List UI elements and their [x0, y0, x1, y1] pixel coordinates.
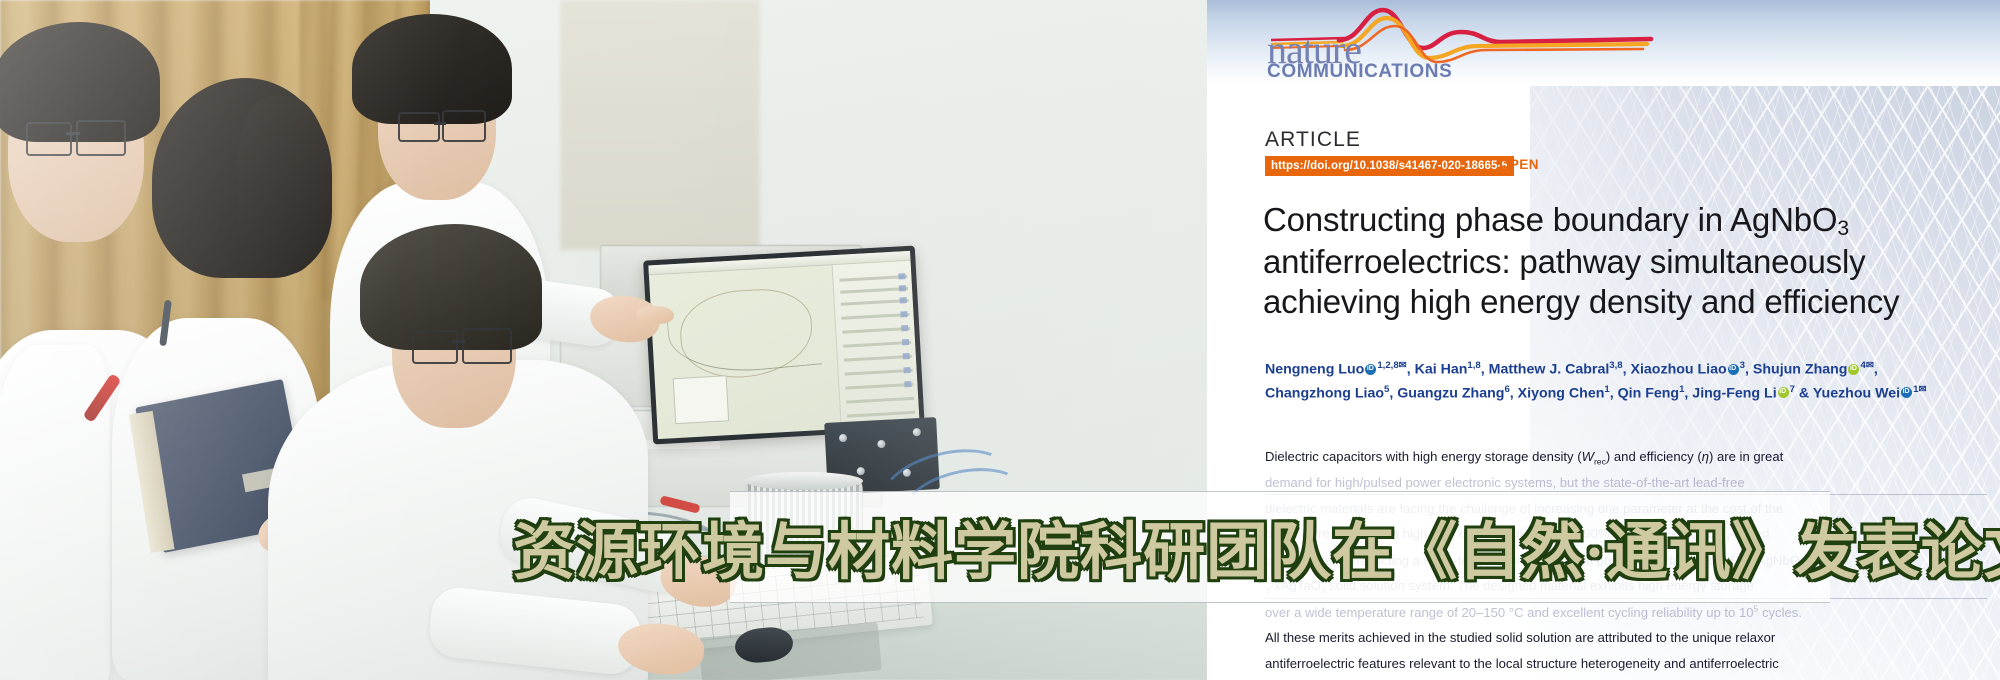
abstract-line-8: All these merits achieved in the studied… [1265, 625, 1987, 651]
computer-monitor [643, 246, 925, 445]
orcid-icon[interactable] [1778, 387, 1789, 398]
orcid-icon[interactable] [1365, 364, 1376, 375]
abstract-text: ) are in great [1709, 449, 1783, 464]
symbol-w-sub: rec [1594, 457, 1606, 467]
orcid-icon[interactable] [1728, 364, 1739, 375]
author-affiliation: 3,8 [1609, 360, 1622, 371]
title-line-1: Constructing phase boundary in AgNbO [1263, 201, 1837, 238]
screen-sidepanel [832, 261, 920, 429]
abstract-text: over a wide temperature range of 20–150 … [1265, 605, 1754, 620]
abstract-text: Dielectric capacitors with high energy s… [1265, 449, 1582, 464]
title-subscript: 3 [1837, 217, 1848, 240]
abstract-line-7: over a wide temperature range of 20–150 … [1265, 600, 1987, 626]
abstract-line-9: antiferroelectric features relevant to t… [1265, 651, 1987, 677]
author-name: , Jing-Feng Li [1684, 385, 1776, 401]
corresponding-envelope-icon: ✉ [1918, 384, 1926, 395]
doi-badge[interactable]: https://doi.org/10.1038/s41467-020-18665… [1265, 156, 1514, 176]
author-name: Nengneng Luo [1265, 362, 1364, 378]
author-name: & Yuezhou Wei [1795, 385, 1900, 401]
abstract-text: cycles. [1758, 605, 1802, 620]
author-name: , Qin Feng [1610, 385, 1679, 401]
abstract-line-1: Dielectric capacitors with high energy s… [1265, 444, 1987, 470]
abstract-text: ) and efficiency ( [1606, 449, 1702, 464]
orcid-icon[interactable] [1901, 387, 1912, 398]
title-line-3: achieving high energy density and effici… [1263, 283, 1899, 320]
author-affiliation: 1,2,8 [1377, 360, 1398, 371]
author-name: Changzhong Liao [1265, 385, 1384, 401]
open-access-tag: OPEN [1499, 157, 1539, 172]
author-name: , Guangzu Zhang [1389, 385, 1504, 401]
article-title: Constructing phase boundary in AgNbO3ant… [1263, 200, 2000, 322]
promo-banner-image: nature COMMUNICATIONS ARTICLE https://do… [0, 0, 2000, 680]
corresponding-envelope-icon: ✉ [1399, 360, 1407, 371]
author-name: , Matthew J. Cabral [1481, 362, 1610, 378]
symbol-w: W [1582, 449, 1594, 464]
communications-wordmark: COMMUNICATIONS [1267, 62, 1452, 81]
cylinder-top [745, 472, 863, 490]
wall-panel [560, 0, 760, 250]
author-name: , Kai Han [1407, 362, 1468, 378]
author-name: , Shujun Zhang [1745, 362, 1847, 378]
author-affiliation: 1,8 [1467, 360, 1480, 371]
title-line-2: antiferroelectrics: pathway simultaneous… [1263, 243, 1865, 280]
plot-legend [673, 375, 729, 424]
author-list: Nengneng Luo1,2,8✉, Kai Han1,8, Matthew … [1265, 358, 2000, 405]
abstract-line-10: ordering, being confirmed by scanning tr… [1265, 676, 1987, 680]
nature-masthead: nature COMMUNICATIONS [1207, 0, 2000, 86]
article-label: ARTICLE [1265, 128, 1361, 152]
orcid-icon[interactable] [1848, 364, 1859, 375]
author-name: , Xiaozhou Liao [1623, 362, 1727, 378]
symbol-eta: η [1702, 449, 1709, 464]
monitor-screen [648, 251, 919, 439]
author-name: , Xiyong Chen [1510, 385, 1605, 401]
headline-banner-text: 资源环境与材料学院科研团队在《自然·通讯》发表论文 [730, 491, 1830, 601]
corresponding-envelope-icon: ✉ [1866, 360, 1874, 371]
